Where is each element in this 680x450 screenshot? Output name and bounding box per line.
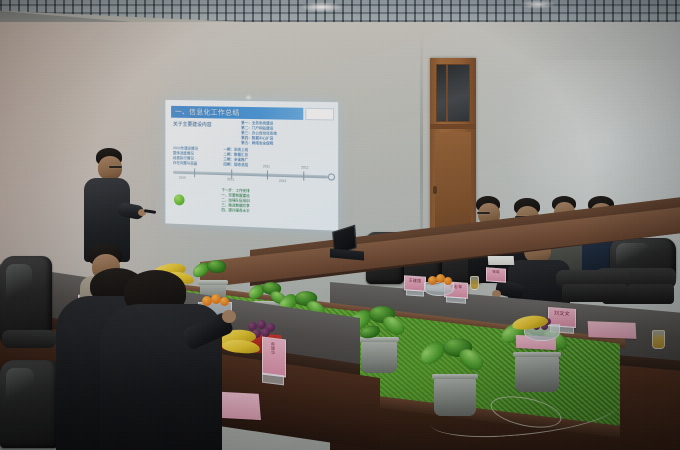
placard-text: 刘文文	[549, 309, 575, 318]
timeline-label-bottom: 2009	[179, 176, 186, 180]
chair-seat	[562, 284, 628, 302]
potted-plant-3	[356, 322, 402, 374]
slide-header-title: 一、信息化工作总结	[175, 107, 240, 118]
name-placard-4: 张晓	[486, 267, 506, 282]
door-knob[interactable]	[433, 186, 437, 194]
timeline-tick	[194, 168, 195, 177]
timeline-tick	[303, 172, 304, 181]
orange-fruit	[444, 277, 452, 285]
presenter-head	[98, 156, 122, 180]
placard-text: 张晓	[487, 269, 505, 275]
plant-pot-rim	[513, 352, 561, 357]
timeline-label-top: 2010	[190, 162, 197, 166]
projector-hotspot	[246, 96, 251, 99]
placard-stand	[406, 289, 424, 296]
attendee-hand	[222, 310, 236, 323]
slide-header-box	[305, 108, 334, 121]
plant-pot	[515, 356, 559, 392]
door-rail	[430, 124, 476, 129]
timeline-end-marker	[328, 173, 335, 180]
projection-screen: 一、信息化工作总结 关于主要建设内容 第一：业务系统建设 第二：门户网站建设 第…	[165, 100, 338, 231]
conference-room-photo: 一、信息化工作总结 关于主要建设内容 第一：业务系统建设 第二：门户网站建设 第…	[0, 0, 680, 450]
slide-accent-dot	[174, 194, 185, 205]
ceiling-light	[520, 0, 556, 9]
chair-armrest	[2, 330, 56, 348]
timeline-label-bottom: 2011	[227, 177, 234, 181]
pink-note-paper	[588, 321, 637, 339]
placard-text: 赵建华	[270, 342, 276, 356]
tea-glass	[652, 330, 665, 349]
slide-subtitle: 关于主要建设内容	[173, 121, 212, 129]
slide: 一、信息化工作总结 关于主要建设内容 第一：业务系统建设 第二：门户网站建设 第…	[165, 100, 338, 231]
white-note-paper	[488, 256, 515, 265]
ceiling-light	[300, 2, 344, 12]
placard-text: 王建国	[405, 277, 425, 284]
placard-stand	[446, 296, 466, 303]
person-attendee-front-left-2	[106, 270, 236, 450]
slide-bullets-bottom: 下一步：工作安排 一、完善制度建设 二、加强队伍培训 三、推进数据共享 四、提升…	[221, 188, 249, 214]
timeline-label-top: 2011	[263, 164, 270, 168]
glasses-icon	[477, 212, 490, 214]
plant-pot	[361, 341, 397, 373]
slide-bullets-mid: 一期：系统上线 二期：数据汇总 三期：全省推广 四期：验收总结	[223, 147, 248, 168]
plant-pot-rim	[432, 374, 478, 379]
slide-timeline-axis	[173, 171, 328, 179]
timeline-tick	[267, 171, 268, 180]
timeline-label-top: 2012	[301, 165, 308, 169]
door-panel	[435, 132, 471, 232]
door-mullion	[446, 64, 448, 122]
door-glass-panel	[436, 64, 470, 122]
glasses-icon	[109, 166, 122, 168]
chair-highlight	[6, 368, 34, 412]
timeline-label-bottom: 2013	[279, 179, 286, 183]
chair-highlight	[6, 264, 32, 314]
slide-bullets-right: 第一：业务系统建设 第二：门户网站建设 第三：办公自动化系统 第四：数据中心扩容…	[241, 121, 277, 147]
slide-header-bar: 一、信息化工作总结	[171, 106, 303, 120]
tea-glass	[470, 276, 479, 290]
name-placard-5: 赵建华	[262, 337, 286, 378]
